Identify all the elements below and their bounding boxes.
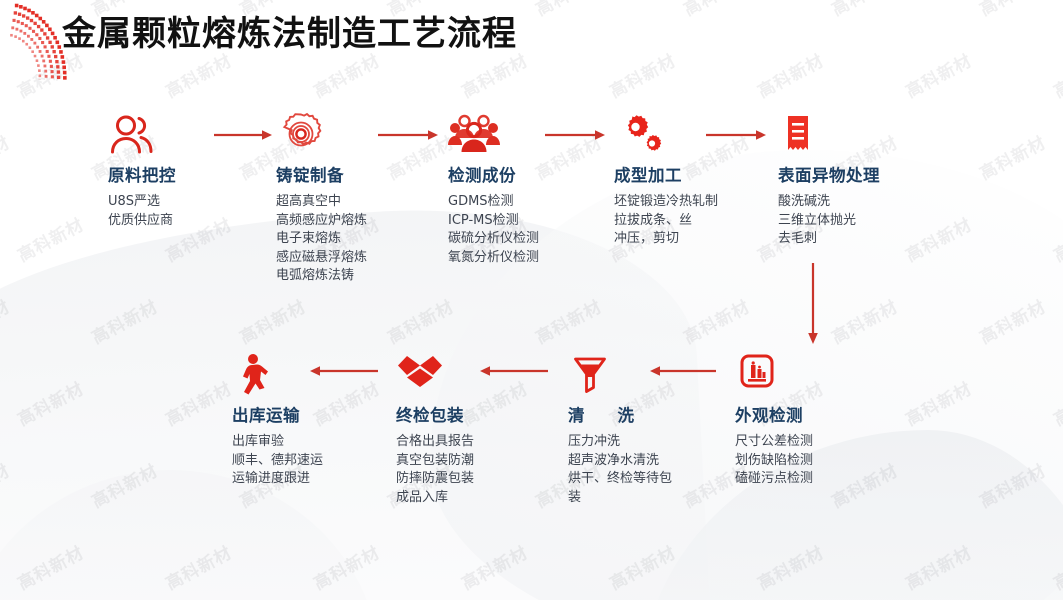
- watermark-text: 高科新材: [900, 211, 975, 267]
- watermark-text: 高科新材: [604, 539, 679, 595]
- watermark-text: 高科新材: [826, 293, 901, 349]
- watermark-text: 高科新材: [1048, 211, 1063, 267]
- step-block-2[interactable]: 铸锭制备 超高真空中 高频感应炉熔炼 电子束熔炼 感应磁悬浮熔炼 电弧熔炼法铸: [276, 112, 367, 286]
- step-item: 出库审验: [232, 433, 323, 452]
- watermark-text: 高科新材: [12, 375, 87, 431]
- step-block-6[interactable]: 外观检测 尺寸公差检测 划伤缺陷检测 磕碰污点检测: [735, 352, 813, 489]
- document-lines-icon: [778, 112, 880, 156]
- step-items-9: 出库审验 顺丰、德邦速运 运输进度跟进: [232, 433, 323, 489]
- step-item: 优质供应商: [108, 212, 176, 231]
- watermark-text: 高科新材: [974, 293, 1049, 349]
- watermark-text: 高科新材: [974, 129, 1049, 185]
- watermark-text: 高科新材: [382, 293, 457, 349]
- two-people-icon: [108, 112, 176, 156]
- watermark-text: 高科新材: [604, 47, 679, 103]
- background-swoosh-bottom-left: [0, 470, 380, 600]
- funnel-icon: [568, 352, 676, 396]
- step-item: U8S严选: [108, 193, 176, 212]
- watermark-text: 高科新材: [0, 293, 14, 349]
- step-item: 成品入库: [396, 489, 474, 508]
- step-title-4: 成型加工: [614, 162, 718, 186]
- watermark-text: 高科新材: [308, 539, 383, 595]
- watermark-text: 高科新材: [530, 293, 605, 349]
- watermark-text: 高科新材: [826, 0, 901, 20]
- step-item: 防摔防震包装: [396, 470, 474, 489]
- watermark-text: 高科新材: [160, 375, 235, 431]
- step-item: 运输进度跟进: [232, 470, 323, 489]
- step-item: 磕碰污点检测: [735, 470, 813, 489]
- watermark-text: 高科新材: [456, 539, 531, 595]
- step-item: 烘干、终检等待包装: [568, 470, 676, 507]
- step-item: 氧氮分析仪检测: [448, 249, 539, 268]
- step-item: ICP-MS检测: [448, 212, 539, 231]
- step-items-5: 酸洗碱洗 三维立体抛光 去毛刺: [778, 193, 880, 249]
- double-gears-icon: [614, 112, 718, 156]
- step-item: 冲压，剪切: [614, 230, 718, 249]
- watermark-layer: 高科新材高科新材高科新材高科新材高科新材高科新材高科新材高科新材高科新材高科新材…: [0, 0, 1063, 600]
- step-block-1[interactable]: 原料把控 U8S严选 优质供应商: [108, 112, 176, 230]
- arrow-step4-to-step5: [706, 128, 768, 142]
- step-title-5: 表面异物处理: [778, 162, 880, 186]
- watermark-text: 高科新材: [900, 375, 975, 431]
- watermark-text: 高科新材: [160, 539, 235, 595]
- watermark-text: 高科新材: [1048, 539, 1063, 595]
- step-title-3: 检测成份: [448, 162, 539, 186]
- walking-person-icon: [232, 352, 323, 396]
- step-item: 划伤缺陷检测: [735, 452, 813, 471]
- step-item: 感应磁悬浮熔炼: [276, 249, 367, 268]
- watermark-text: 高科新材: [0, 457, 14, 513]
- watermark-text: 高科新材: [900, 539, 975, 595]
- step-item: 三维立体抛光: [778, 212, 880, 231]
- factory-box-icon: [735, 352, 813, 396]
- step-block-7[interactable]: 清 洗 压力冲洗 超声波净水清洗 烘干、终检等待包装: [568, 352, 676, 507]
- step-item: 高频感应炉熔炼: [276, 212, 367, 231]
- watermark-text: 高科新材: [530, 0, 605, 20]
- people-group-icon: [448, 112, 539, 156]
- watermark-text: 高科新材: [900, 47, 975, 103]
- step-title-1: 原料把控: [108, 162, 176, 186]
- slide-canvas: 高科新材高科新材高科新材高科新材高科新材高科新材高科新材高科新材高科新材高科新材…: [0, 0, 1063, 600]
- step-block-5[interactable]: 表面异物处理 酸洗碱洗 三维立体抛光 去毛刺: [778, 112, 880, 249]
- watermark-text: 高科新材: [12, 539, 87, 595]
- step-items-8: 合格出具报告 真空包装防潮 防摔防震包装 成品入库: [396, 433, 474, 507]
- step-title-2: 铸锭制备: [276, 162, 367, 186]
- arrow-step7-to-step8: [478, 364, 548, 378]
- step-item: 尺寸公差检测: [735, 433, 813, 452]
- step-items-1: U8S严选 优质供应商: [108, 193, 176, 230]
- watermark-text: 高科新材: [234, 293, 309, 349]
- background-swoosh-bottom-right: [640, 430, 1063, 600]
- step-block-3[interactable]: 检测成份 GDMS检测 ICP-MS检测 碳硫分析仪检测 氧氮分析仪检测: [448, 112, 539, 267]
- watermark-text: 高科新材: [826, 457, 901, 513]
- step-item: 坯锭锻造冷热轧制: [614, 193, 718, 212]
- watermark-text: 高科新材: [1048, 47, 1063, 103]
- open-box-icon: [396, 352, 474, 396]
- step-block-9[interactable]: 出库运输 出库审验 顺丰、德邦速运 运输进度跟进: [232, 352, 323, 489]
- step-item: 碳硫分析仪检测: [448, 230, 539, 249]
- step-item: 合格出具报告: [396, 433, 474, 452]
- watermark-text: 高科新材: [12, 211, 87, 267]
- step-title-7: 清 洗: [568, 402, 676, 426]
- step-block-8[interactable]: 终检包装 合格出具报告 真空包装防潮 防摔防震包装 成品入库: [396, 352, 474, 507]
- step-title-9: 出库运输: [232, 402, 323, 426]
- step-item: 电子束熔炼: [276, 230, 367, 249]
- step-title-6: 外观检测: [735, 402, 813, 426]
- step-block-4[interactable]: 成型加工 坯锭锻造冷热轧制 拉拔成条、丝 冲压，剪切: [614, 112, 718, 249]
- arrow-step2-to-step3: [378, 128, 440, 142]
- step-item: 去毛刺: [778, 230, 880, 249]
- watermark-text: 高科新材: [752, 539, 827, 595]
- watermark-text: 高科新材: [974, 457, 1049, 513]
- step-items-3: GDMS检测 ICP-MS检测 碳硫分析仪检测 氧氮分析仪检测: [448, 193, 539, 267]
- step-item: 真空包装防潮: [396, 452, 474, 471]
- watermark-text: 高科新材: [86, 293, 161, 349]
- step-item: GDMS检测: [448, 193, 539, 212]
- step-item: 超声波净水清洗: [568, 452, 676, 471]
- watermark-text: 高科新材: [86, 457, 161, 513]
- page-title: 金属颗粒熔炼法制造工艺流程: [62, 6, 517, 55]
- watermark-text: 高科新材: [1048, 375, 1063, 431]
- arrow-step3-to-step4: [545, 128, 607, 142]
- step-title-8: 终检包装: [396, 402, 474, 426]
- step-items-6: 尺寸公差检测 划伤缺陷检测 磕碰污点检测: [735, 433, 813, 489]
- watermark-text: 高科新材: [678, 293, 753, 349]
- watermark-text: 高科新材: [678, 0, 753, 20]
- watermark-text: 高科新材: [0, 129, 14, 185]
- step-items-2: 超高真空中 高频感应炉熔炼 电子束熔炼 感应磁悬浮熔炼 电弧熔炼法铸: [276, 193, 367, 286]
- arrow-step1-to-step2: [214, 128, 274, 142]
- step-item: 顺丰、德邦速运: [232, 452, 323, 471]
- step-item: 酸洗碱洗: [778, 193, 880, 212]
- watermark-text: 高科新材: [974, 0, 1049, 20]
- step-items-7: 压力冲洗 超声波净水清洗 烘干、终检等待包装: [568, 433, 676, 507]
- step-items-4: 坯锭锻造冷热轧制 拉拔成条、丝 冲压，剪切: [614, 193, 718, 249]
- step-item: 电弧熔炼法铸: [276, 267, 367, 286]
- step-item: 压力冲洗: [568, 433, 676, 452]
- arrow-step5-to-step6: [804, 263, 822, 347]
- step-item: 拉拔成条、丝: [614, 212, 718, 231]
- watermark-text: 高科新材: [752, 47, 827, 103]
- gear-rings-icon: [276, 112, 367, 156]
- step-item: 超高真空中: [276, 193, 367, 212]
